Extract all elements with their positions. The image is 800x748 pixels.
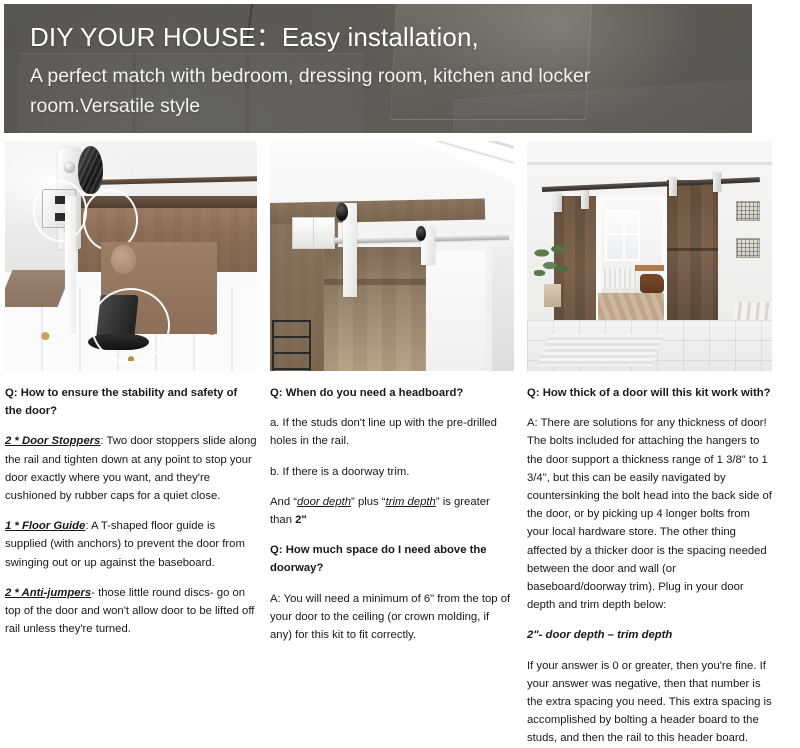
photo3-window [605, 210, 639, 261]
and-middle: ” plus “ [351, 496, 386, 508]
photo3-hanger-4 [713, 173, 721, 191]
banner-title: DIY YOUR HOUSE：Easy installation, [30, 20, 732, 54]
photo1-wall-edge [65, 196, 75, 334]
faq-question: Q: When do you need a headboard? [270, 384, 514, 402]
hardware-closeup-photo [5, 141, 257, 371]
faq-answer: 1 * Floor Guide: A T-shaped floor guide … [5, 517, 257, 572]
banner-subtitle: A perfect match with bedroom, dressing r… [30, 61, 680, 121]
term-trim-depth: trim depth [386, 496, 436, 508]
faq-answer: If your answer is 0 or greater, then you… [527, 657, 772, 748]
faq-column-2: Q: When do you need a headboard? a. If t… [270, 141, 514, 748]
photo1-roller-wheel [78, 146, 103, 194]
photo1-round-disc [111, 245, 136, 275]
faq-columns: Q: How to ensure the stability and safet… [0, 141, 800, 748]
photo3-hanger-2 [581, 190, 589, 208]
faq-answer: 2 * Anti-jumpers- those little round dis… [5, 584, 257, 639]
photo2-barn-door [324, 247, 426, 371]
photo3-wall-basket-2 [736, 238, 760, 258]
installed-rail-photo [270, 141, 514, 371]
faq-question: Q: How thick of a door will this kit wor… [527, 384, 772, 402]
faq-column-3: Q: How thick of a door will this kit wor… [527, 141, 772, 748]
photo3-table [635, 265, 664, 271]
faq-question: Q: How to ensure the stability and safet… [5, 384, 257, 420]
faq-answer-formula-note: And “door depth” plus “trim depth” is gr… [270, 493, 514, 529]
photo1-highlight-circle-1 [33, 180, 87, 242]
photo3-plant-pot [544, 284, 561, 307]
photo2-wire-shelf [272, 320, 311, 371]
photo3-hanger-3 [669, 178, 677, 196]
faq-answer: a. If the studs don't line up with the p… [270, 414, 514, 450]
faq-question: Q: How much space do I need above the do… [270, 541, 514, 577]
faq-text-1: Q: How to ensure the stability and safet… [5, 384, 257, 638]
photo3-wall-basket-1 [736, 201, 760, 221]
faq-lead-term: 2 * Anti-jumpers [5, 587, 91, 599]
faq-text-3: Q: How thick of a door will this kit wor… [527, 384, 772, 748]
photo3-crown-molding [527, 162, 772, 165]
photo3-potted-plant-leaves [534, 238, 568, 289]
faq-column-1: Q: How to ensure the stability and safet… [5, 141, 257, 748]
photo3-area-rug [537, 334, 664, 366]
and-prefix: And “ [270, 496, 297, 508]
faq-answer: A: There are solutions for any thickness… [527, 414, 772, 614]
photo3-right-barn-door [667, 180, 718, 325]
measurement-value: 2" [295, 514, 307, 526]
faq-answer: 2 * Door Stoppers: Two door stoppers sli… [5, 432, 257, 505]
faq-text-2: Q: When do you need a headboard? a. If t… [270, 384, 514, 644]
photo2-door-stopper [292, 217, 335, 249]
faq-answer: A: You will need a minimum of 6" from th… [270, 590, 514, 645]
hero-banner: DIY YOUR HOUSE：Easy installation, A perf… [4, 4, 752, 133]
faq-answer: b. If there is a doorway trim. [270, 463, 514, 481]
faq-lead-term: 2 * Door Stoppers [5, 435, 100, 447]
faq-lead-term: 1 * Floor Guide [5, 520, 85, 532]
photo1-bolt-upper [64, 162, 75, 173]
banner-text-group: DIY YOUR HOUSE：Easy installation, A perf… [30, 20, 732, 121]
term-door-depth: door depth [297, 496, 351, 508]
spacing-formula: 2"- door depth – trim depth [527, 626, 772, 644]
photo3-radiator [601, 268, 638, 289]
photo3-hanger-1 [554, 194, 562, 212]
photo3-leather-chair [640, 274, 665, 292]
photo2-right-wall [492, 247, 514, 371]
photo2-open-doorway [426, 251, 485, 371]
room-double-doors-photo [527, 141, 772, 371]
photo2-door-midrail [324, 279, 426, 285]
